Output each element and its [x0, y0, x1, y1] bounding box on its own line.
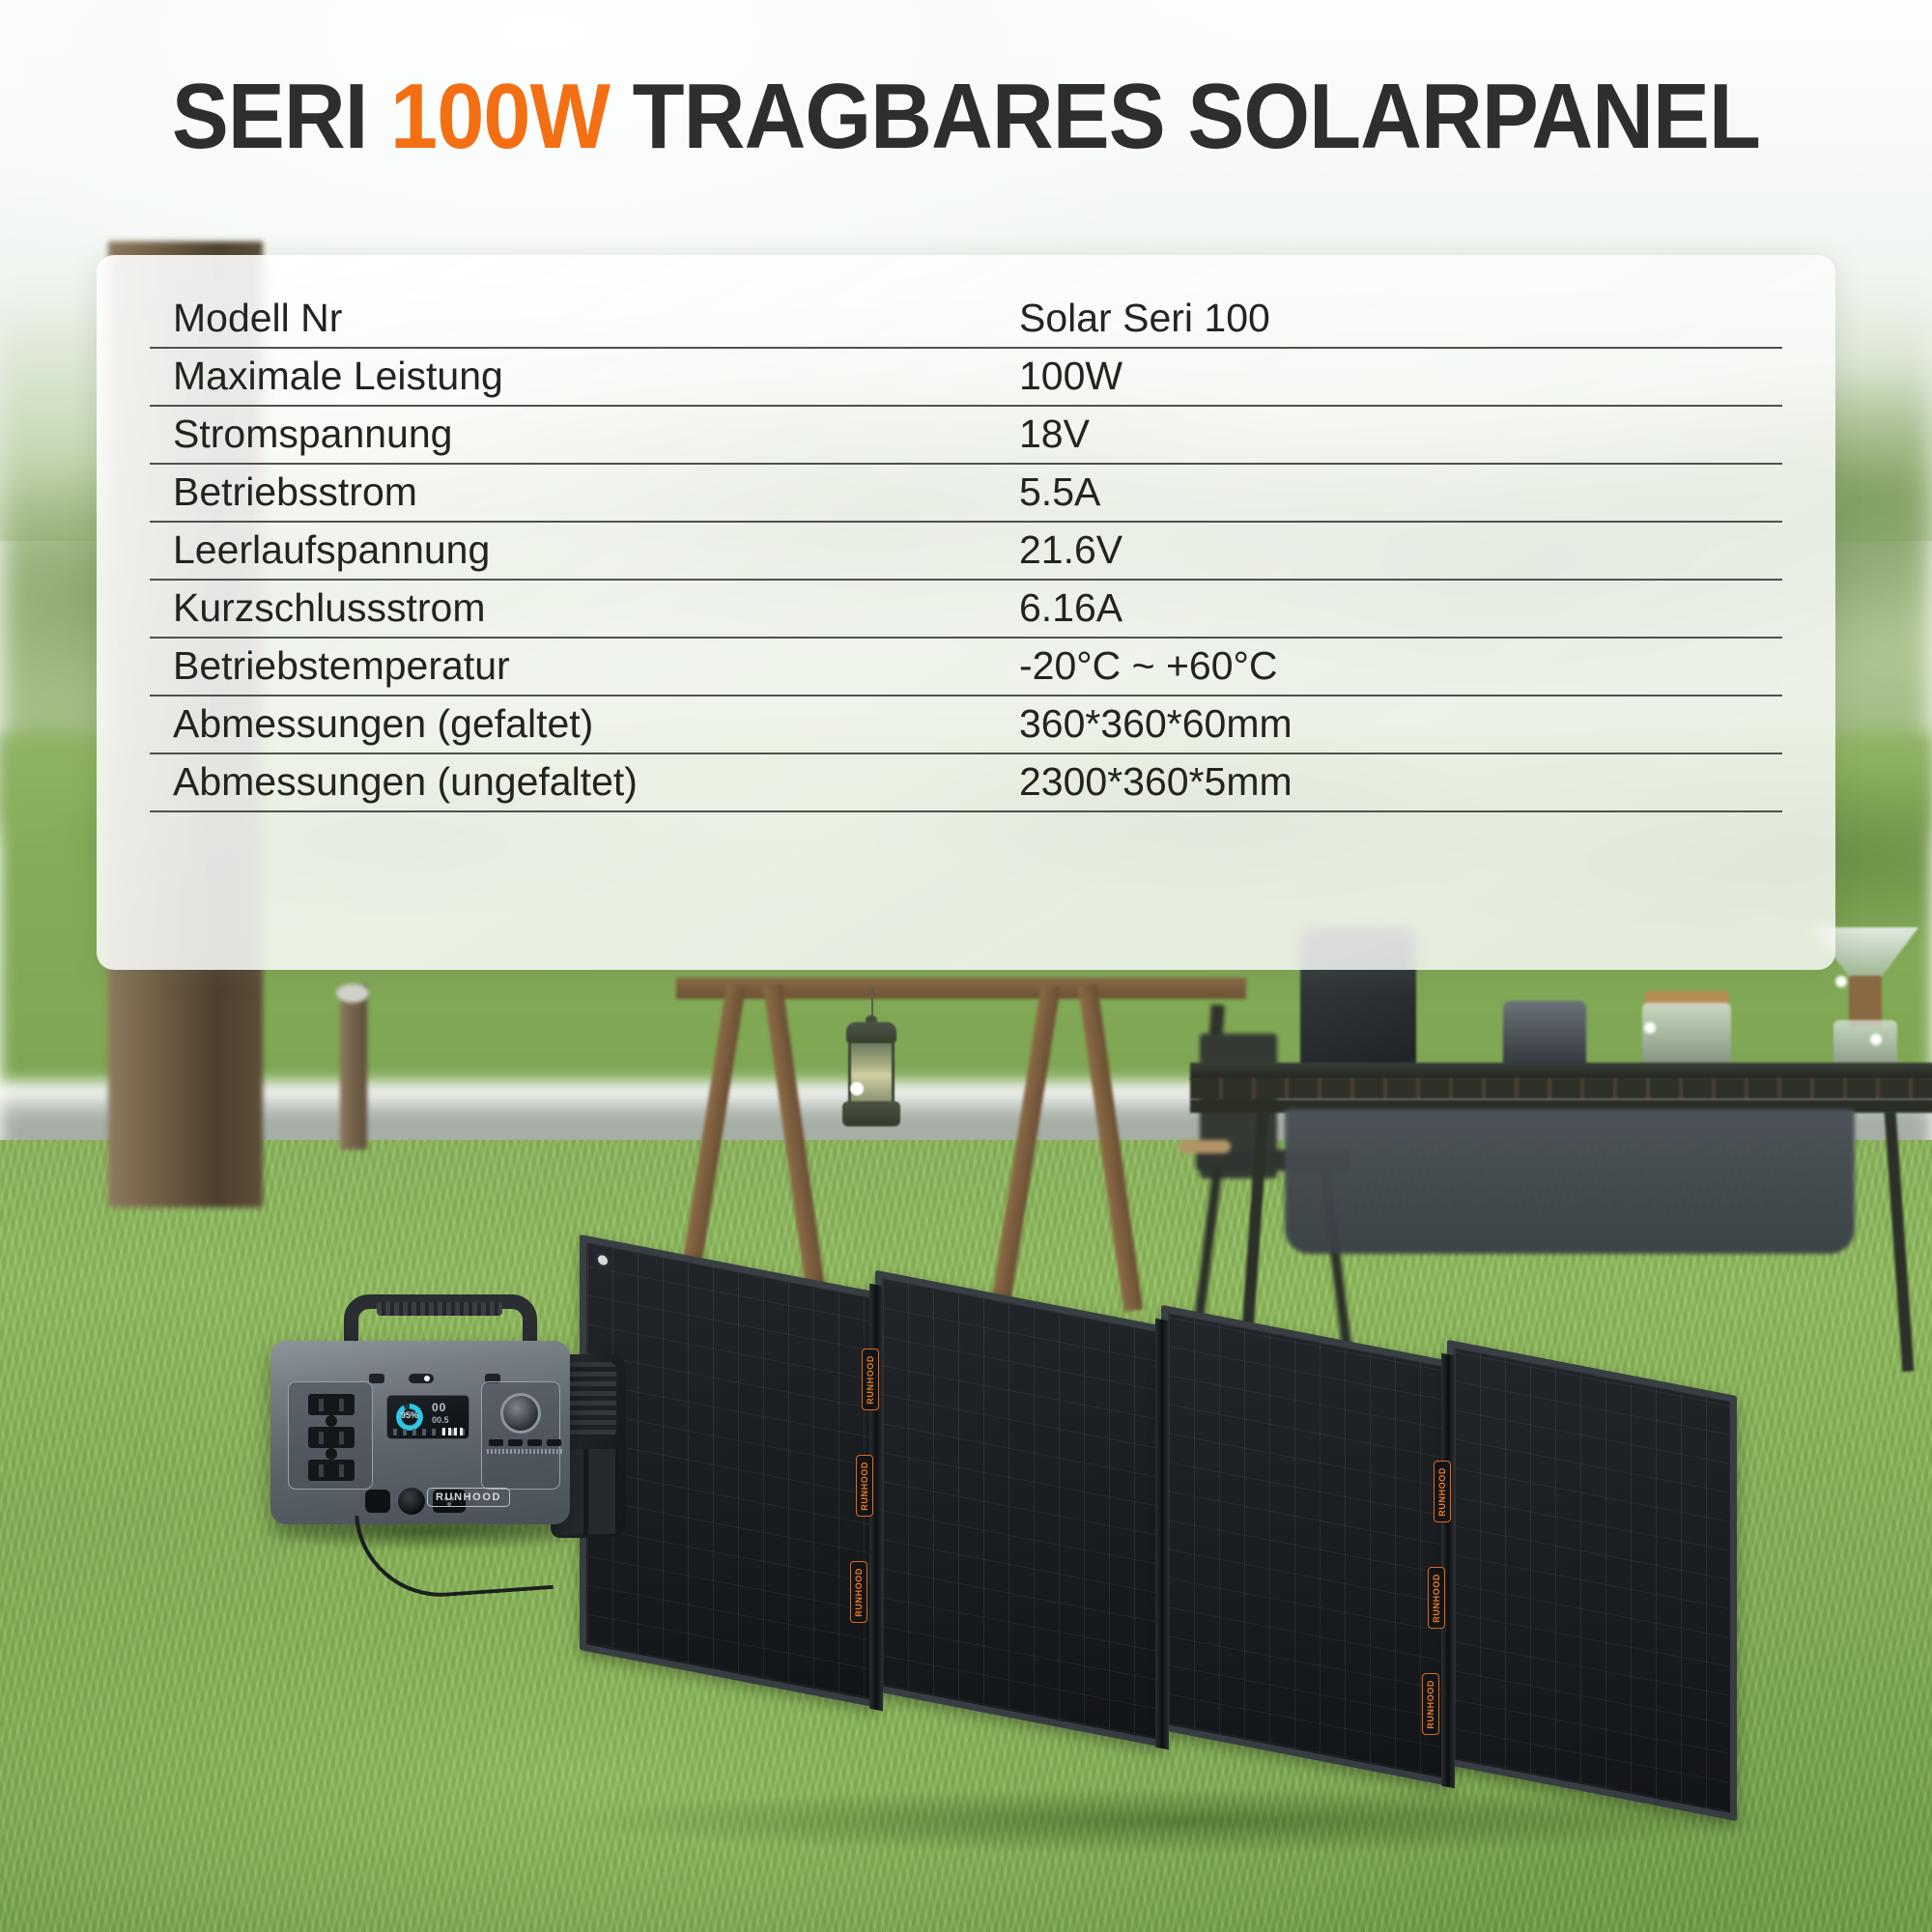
spec-value: 360*360*60mm — [1019, 696, 1782, 753]
lantern-glare — [850, 1082, 864, 1095]
highlight-glint — [1644, 1022, 1656, 1034]
ac-outlet-ground-pin — [326, 1415, 337, 1427]
solar-panel-section — [1447, 1340, 1737, 1821]
table-row: Betriebstemperatur -20°C ~ +60°C — [150, 638, 1782, 696]
camp-table-slats — [1190, 1078, 1932, 1099]
spec-label: Abmessungen (ungefaltet) — [150, 753, 1019, 811]
primary-watt-readout: 00 — [432, 1401, 446, 1414]
usb-port-label — [506, 1449, 524, 1454]
camping-lantern — [840, 1022, 902, 1130]
spec-label: Stromspannung — [150, 406, 1019, 464]
solar-panel-fold-seam — [1155, 1319, 1169, 1750]
specifications-table: Modell Nr Solar Seri 100 Maximale Leistu… — [150, 290, 1782, 812]
usb-port — [508, 1439, 523, 1446]
wooden-post — [340, 985, 367, 1150]
ac-outlet — [308, 1427, 355, 1448]
post-cap — [336, 983, 369, 1003]
usb-port — [489, 1439, 503, 1446]
title-prefix: SERI — [172, 65, 390, 168]
power-station-lcd-display: 95% 00 00.5 — [386, 1395, 469, 1439]
usb-port — [547, 1439, 561, 1446]
page-title: SERI 100W TRAGBARES SOLARPANEL — [77, 64, 1855, 170]
power-station-brand-logo: RUNHOOD — [427, 1488, 510, 1507]
latch-clip — [369, 1374, 384, 1383]
lantern-base — [842, 1101, 900, 1126]
spec-label: Leerlaufspannung — [150, 522, 1019, 580]
solar-panel-brand-label: RUNHOOD — [1437, 1467, 1447, 1517]
table-row: Maximale Leistung 100W — [150, 348, 1782, 406]
ac-outlet-ground-pin — [326, 1448, 337, 1460]
spec-value: -20°C ~ +60°C — [1019, 638, 1782, 696]
spec-value: 5.5A — [1019, 464, 1782, 522]
carafe-neck — [1849, 976, 1882, 1026]
handle-grip-texture — [377, 1302, 502, 1316]
solar-panel-brand-label: RUNHOOD — [1426, 1680, 1435, 1729]
solar-panel-border — [1161, 1305, 1451, 1786]
solar-panel-brand-tab: RUNHOOD — [1434, 1461, 1451, 1522]
ac-outlet — [308, 1394, 355, 1415]
highlight-glint — [1835, 976, 1847, 987]
ac-outlet — [308, 1460, 355, 1481]
spec-value: 2300*360*5mm — [1019, 753, 1782, 811]
ac-outlet-panel — [288, 1381, 373, 1490]
spec-label: Kurzschlussstrom — [150, 580, 1019, 638]
usb-port-label — [487, 1449, 504, 1454]
title-highlight-100w: 100W — [390, 65, 610, 168]
usb-port-label — [526, 1449, 543, 1454]
title-suffix: TRAGBARES SOLARPANEL — [610, 65, 1760, 168]
table-row: Abmessungen (ungefaltet) 2300*360*5mm — [150, 753, 1782, 811]
spec-label: Modell Nr — [150, 290, 1019, 348]
solar-panel-brand-label: RUNHOOD — [854, 1568, 864, 1617]
table-row: Kurzschlussstrom 6.16A — [150, 580, 1782, 638]
solar-panel-border — [1447, 1340, 1737, 1821]
solar-panel-brand-label: RUNHOOD — [1432, 1574, 1441, 1623]
table-row: Abmessungen (gefaltet) 360*360*60mm — [150, 696, 1782, 753]
spec-label: Betriebstemperatur — [150, 638, 1019, 696]
table-row: Modell Nr Solar Seri 100 — [150, 290, 1782, 348]
display-bar-icons — [442, 1428, 464, 1435]
spec-value: 21.6V — [1019, 522, 1782, 580]
solar-panel-brand-tab: RUNHOOD — [1422, 1673, 1439, 1735]
usb-port — [527, 1439, 542, 1446]
solar-panel-border — [875, 1270, 1165, 1747]
table-row: Stromspannung 18V — [150, 406, 1782, 464]
spec-table-body: Modell Nr Solar Seri 100 Maximale Leistu… — [150, 290, 1782, 811]
solar-panel-brand-tab: RUNHOOD — [856, 1455, 873, 1517]
specifications-card: Modell Nr Solar Seri 100 Maximale Leistu… — [97, 255, 1835, 970]
spec-value: 100W — [1019, 348, 1782, 406]
solar-panel-brand-tab: RUNHOOD — [862, 1349, 879, 1410]
usb-port-label — [545, 1449, 562, 1454]
solar-panel-brand-label: RUNHOOD — [860, 1462, 869, 1511]
spec-label: Maximale Leistung — [150, 348, 1019, 406]
highlight-glint — [1870, 1034, 1882, 1045]
lantern-cap — [846, 1022, 896, 1043]
solar-panel-brand-tab: RUNHOOD — [1428, 1567, 1445, 1629]
led-indicator-icon — [409, 1374, 434, 1383]
solar-panel-brand-tab: RUNHOOD — [850, 1561, 867, 1623]
spec-label: Abmessungen (gefaltet) — [150, 696, 1019, 753]
battery-percent-readout: 95% — [396, 1410, 423, 1420]
dc-input-port — [365, 1490, 390, 1513]
power-knob[interactable] — [500, 1393, 541, 1434]
portable-solar-panel: RUNHOOD RUNHOOD RUNHOOD RUNHOOD RUNHOOD … — [580, 1246, 1932, 1874]
chair-armrest — [1179, 1140, 1231, 1153]
camp-table-storage-bag — [1285, 1109, 1855, 1254]
table-row: Leerlaufspannung 21.6V — [150, 522, 1782, 580]
solar-panel-brand-label: RUNHOOD — [866, 1355, 875, 1405]
spec-value: 6.16A — [1019, 580, 1782, 638]
table-row: Betriebsstrom 5.5A — [150, 464, 1782, 522]
solar-panel-section — [1161, 1305, 1451, 1786]
a-frame-beam — [676, 978, 1246, 999]
solar-panel-section — [875, 1270, 1165, 1747]
portable-power-station: 95% 00 00.5 RUNHOOD — [261, 1294, 638, 1575]
spec-label: Betriebsstrom — [150, 464, 1019, 522]
secondary-readout: 00.5 — [432, 1415, 449, 1425]
spec-value: Solar Seri 100 — [1019, 290, 1782, 348]
spec-value: 18V — [1019, 406, 1782, 464]
